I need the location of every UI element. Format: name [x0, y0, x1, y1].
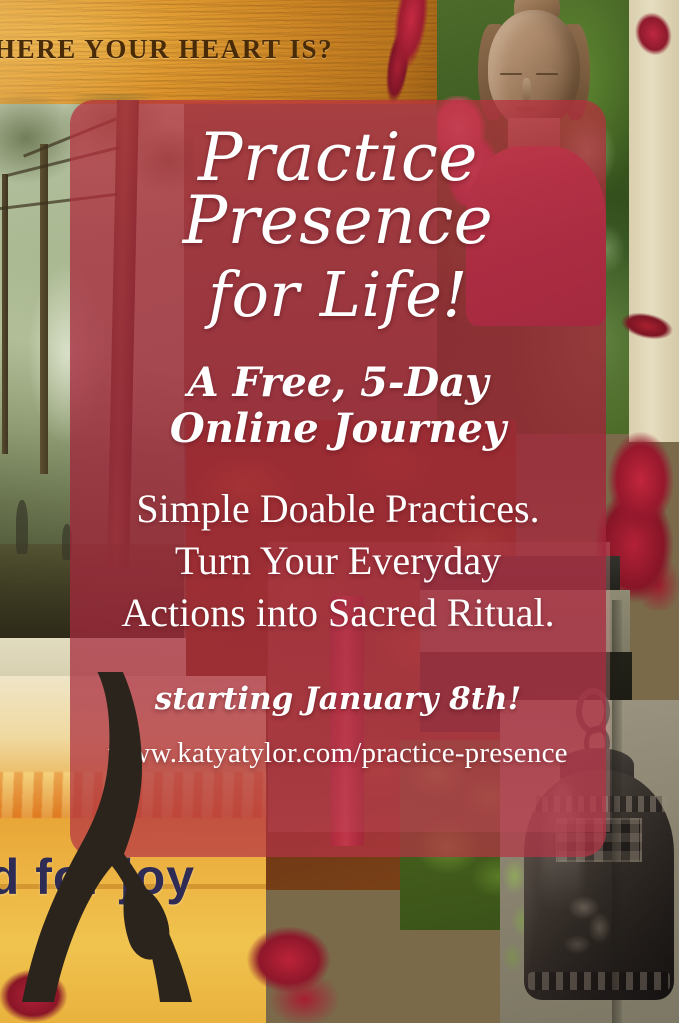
forest-figure-adult: [16, 500, 28, 554]
body-line-2: Turn Your Everyday: [70, 535, 606, 587]
subtitle-line-1: A Free, 5-Day: [70, 360, 606, 406]
dried-red-flower: [236, 920, 346, 1023]
statue-eye-right: [536, 68, 558, 75]
page-title: Practice Presence for Life!: [70, 100, 606, 324]
forest-tree-trunk: [2, 174, 8, 454]
subtitle-line-2: Online Journey: [70, 406, 606, 452]
yoga-figure-silhouette: [8, 672, 198, 1002]
body-line-3: Actions into Sacred Ritual.: [70, 587, 606, 639]
poster-body-copy: Simple Doable Practices. Turn Your Every…: [70, 483, 606, 639]
title-line-2: for Life!: [70, 265, 606, 325]
promotional-poster: HERE YOUR HEART IS?: [0, 0, 679, 1023]
wooden-sign-text: HERE YOUR HEART IS?: [0, 34, 394, 65]
title-line-1: Practice Presence: [183, 119, 493, 259]
poster-subtitle: A Free, 5-Day Online Journey: [70, 360, 606, 451]
vertical-divider: [612, 600, 622, 1023]
forest-tree-trunk: [40, 144, 48, 474]
body-line-1: Simple Doable Practices.: [70, 483, 606, 535]
bell-lower-band: [528, 972, 670, 990]
statue-eye-left: [500, 68, 522, 75]
statue-nose: [522, 78, 531, 102]
